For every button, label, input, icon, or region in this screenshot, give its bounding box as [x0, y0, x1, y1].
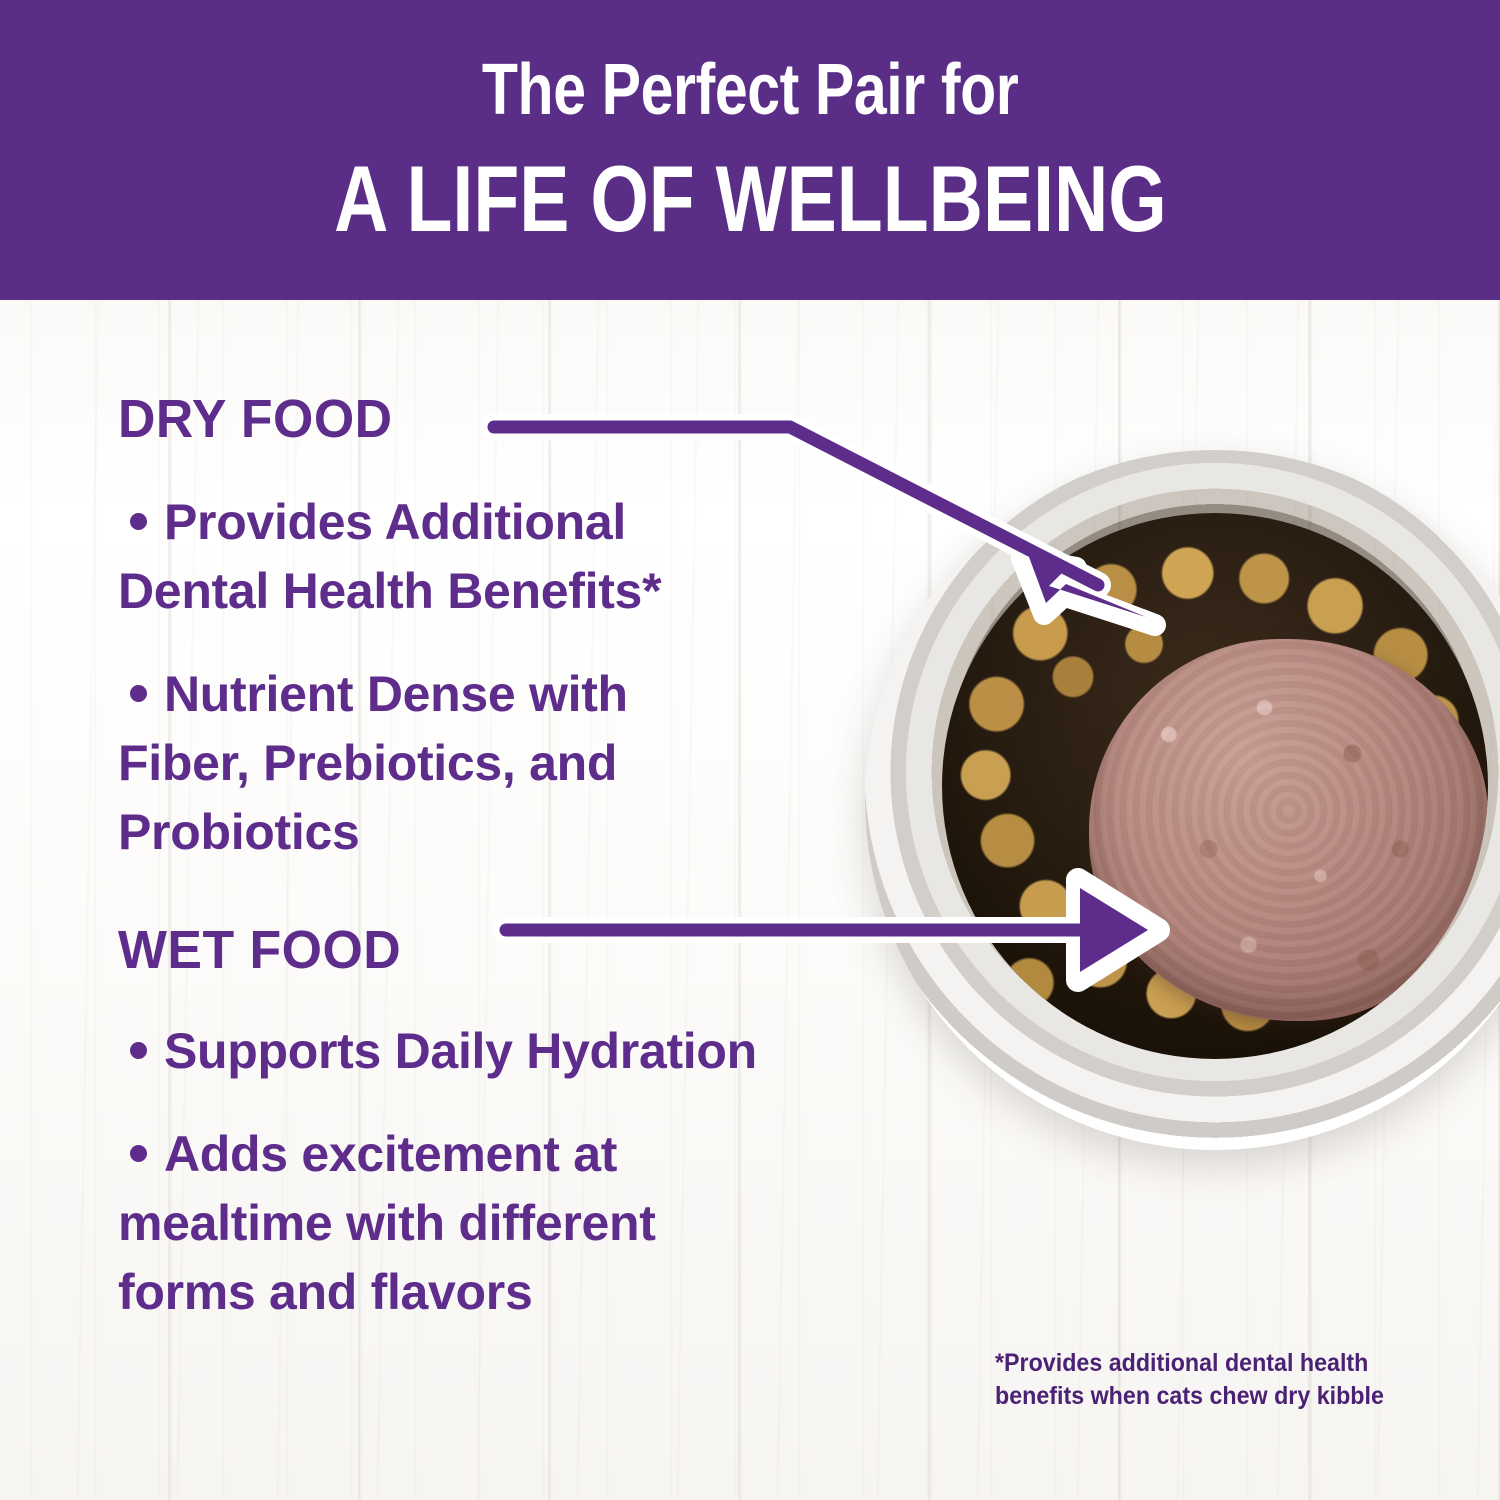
bullet-dot-icon — [130, 1145, 147, 1162]
list-item-label: Provides Additional Dental Health Benefi… — [118, 494, 661, 619]
bullet-dot-icon — [130, 513, 147, 530]
list-item: Adds excitement at mealtime with differe… — [118, 1120, 758, 1327]
wet-food-bullet-list: Supports Daily Hydration Adds excitement… — [118, 1017, 818, 1327]
bullet-dot-icon — [130, 1042, 147, 1059]
header-subtitle: The Perfect Pair for — [482, 54, 1018, 126]
stainless-steel-bowl-icon — [865, 450, 1500, 1150]
benefits-column: DRY FOOD Provides Additional Dental Heal… — [118, 392, 818, 1361]
footnote: *Provides additional dental health benef… — [995, 1347, 1423, 1413]
bowl-interior — [942, 513, 1488, 1059]
bullet-dot-icon — [130, 685, 147, 702]
header-title: A LIFE OF WELLBEING — [334, 152, 1167, 246]
header-banner: The Perfect Pair for A LIFE OF WELLBEING — [0, 0, 1500, 300]
footnote-line-1: *Provides additional dental health — [995, 1347, 1423, 1380]
promo-infographic: The Perfect Pair for A LIFE OF WELLBEING… — [0, 0, 1500, 1500]
list-item: Supports Daily Hydration — [118, 1017, 758, 1086]
list-item-label: Adds excitement at mealtime with differe… — [118, 1126, 656, 1320]
list-item: Nutrient Dense with Fiber, Prebiotics, a… — [118, 660, 758, 867]
dry-food-heading: DRY FOOD — [118, 392, 790, 446]
list-item-label: Supports Daily Hydration — [164, 1023, 757, 1079]
bowl-photo — [845, 440, 1500, 1230]
footnote-line-2: benefits when cats chew dry kibble — [995, 1380, 1423, 1413]
wet-pate-mound — [1089, 639, 1488, 1021]
wet-food-heading: WET FOOD — [118, 923, 790, 977]
list-item-label: Nutrient Dense with Fiber, Prebiotics, a… — [118, 666, 628, 860]
list-item: Provides Additional Dental Health Benefi… — [118, 488, 758, 626]
dry-food-bullet-list: Provides Additional Dental Health Benefi… — [118, 488, 818, 867]
